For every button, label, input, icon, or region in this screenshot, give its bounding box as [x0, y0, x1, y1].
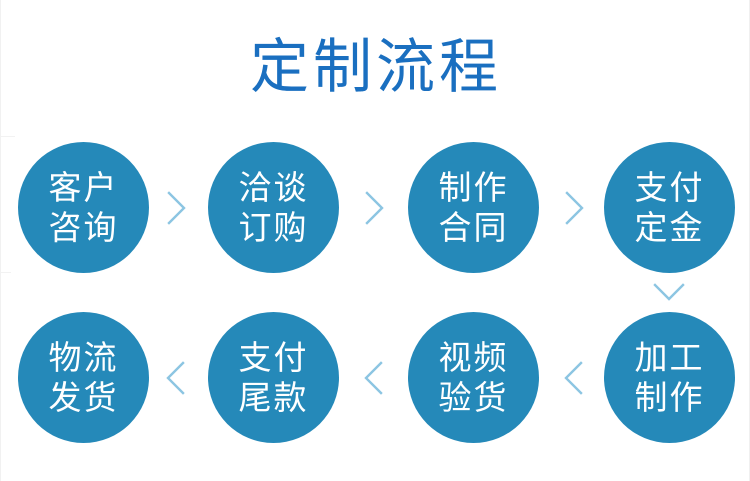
- flow-node-label-line2: 定金: [635, 208, 705, 248]
- chevron-left-icon: [559, 355, 589, 401]
- flow-node-pay-deposit[interactable]: 支付 定金: [604, 142, 735, 273]
- chevron-right-icon: [559, 185, 589, 231]
- chevron-left-icon: [359, 355, 389, 401]
- flow-node-label-line1: 支付: [239, 338, 309, 378]
- flow-row-bottom: 物流 发货 支付 尾款 视频 验货 加工 制作: [1, 312, 750, 444]
- flow-node-label-line2: 咨询: [49, 208, 119, 248]
- flow-node-label-line2: 合同: [439, 208, 509, 248]
- chevron-left-icon: [161, 355, 191, 401]
- flow-node-label-line1: 视频: [439, 338, 509, 378]
- flow-node-pay-balance[interactable]: 支付 尾款: [208, 312, 339, 443]
- flow-row-top: 客户 咨询 洽谈 订购 制作 合同 支付 定金: [1, 142, 750, 274]
- flow-node-label-line2: 尾款: [239, 378, 309, 418]
- flow-node-customer-consultation[interactable]: 客户 咨询: [18, 142, 149, 273]
- custom-process-flow-infographic: 定制流程 客户 咨询 洽谈 订购 制作 合同: [0, 0, 750, 481]
- flow-node-logistics-shipping[interactable]: 物流 发货: [18, 312, 149, 443]
- flow-node-processing-manufacturing[interactable]: 加工 制作: [604, 312, 735, 443]
- flow-node-video-inspection[interactable]: 视频 验货: [408, 312, 539, 443]
- chevron-right-icon: [359, 185, 389, 231]
- flow-node-label-line1: 制作: [439, 168, 509, 208]
- flow-node-label-line1: 加工: [635, 338, 705, 378]
- flow-node-label-line1: 物流: [49, 338, 119, 378]
- divider: [1, 136, 15, 137]
- chevron-down-icon: [649, 280, 689, 304]
- flow-node-make-contract[interactable]: 制作 合同: [408, 142, 539, 273]
- flow-node-label-line2: 发货: [49, 378, 119, 418]
- flow-node-label-line1: 洽谈: [239, 168, 309, 208]
- page-title: 定制流程: [1, 32, 750, 102]
- flow-node-label-line2: 订购: [239, 208, 309, 248]
- flow-node-negotiate-order[interactable]: 洽谈 订购: [208, 142, 339, 273]
- chevron-right-icon: [161, 185, 191, 231]
- flow-node-label-line2: 制作: [635, 378, 705, 418]
- flow-node-label-line2: 验货: [439, 378, 509, 418]
- flow-node-label-line1: 客户: [49, 168, 119, 208]
- flow-node-label-line1: 支付: [635, 168, 705, 208]
